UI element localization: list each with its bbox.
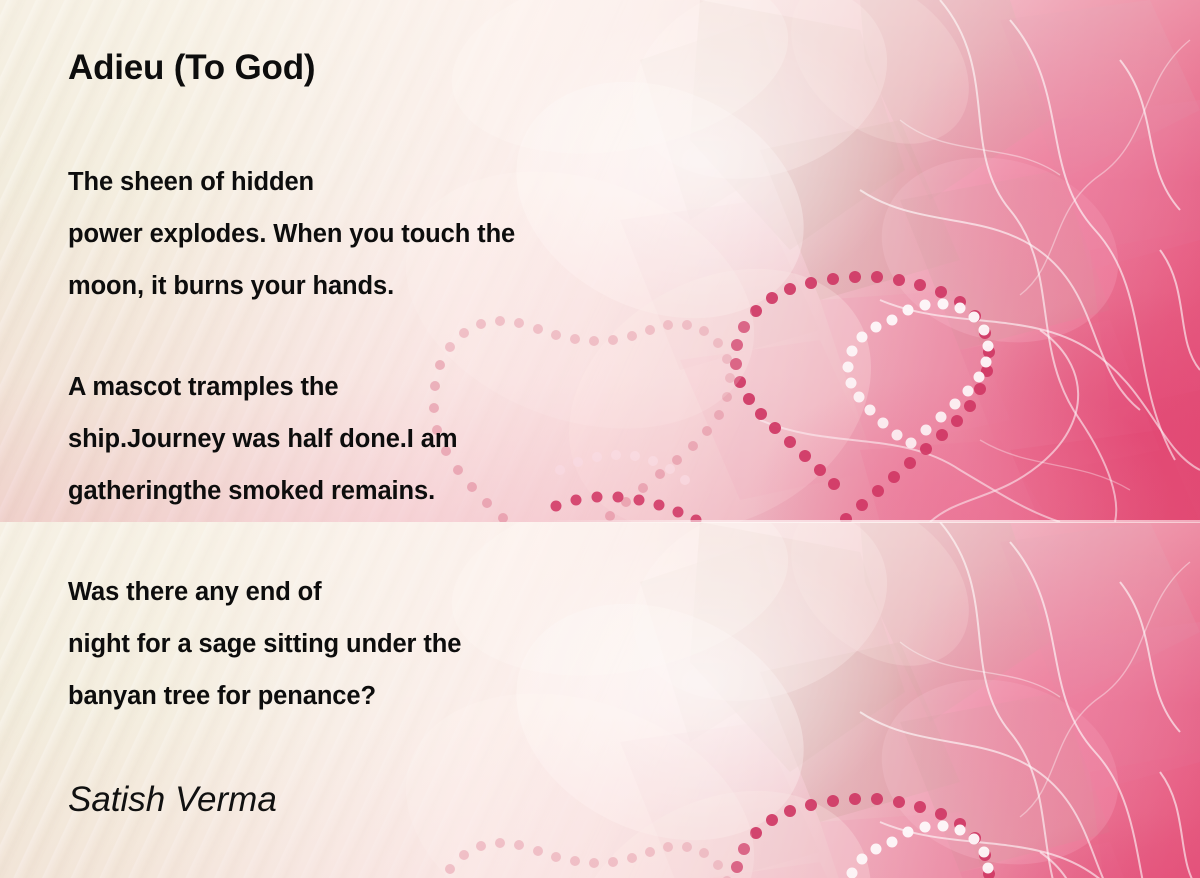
poem-line: Was there any end of bbox=[68, 566, 461, 618]
poem-line: banyan tree for penance? bbox=[68, 670, 461, 722]
poem-text-block: Adieu (To God) The sheen of hidden power… bbox=[68, 0, 708, 878]
poem-stanza-2: A mascot tramples the ship.Journey was h… bbox=[68, 361, 457, 517]
poem-line: The sheen of hidden bbox=[68, 156, 515, 208]
poem-line: power explodes. When you touch the bbox=[68, 208, 515, 260]
poem-line: ship.Journey was half done.I am bbox=[68, 413, 457, 465]
poem-title: Adieu (To God) bbox=[68, 48, 315, 88]
poem-line: gatheringthe smoked remains. bbox=[68, 465, 457, 517]
poem-line: moon, it burns your hands. bbox=[68, 260, 515, 312]
poem-stanza-1: The sheen of hidden power explodes. When… bbox=[68, 156, 515, 312]
poem-stanza-3: Was there any end of night for a sage si… bbox=[68, 566, 461, 722]
poem-card: Adieu (To God) The sheen of hidden power… bbox=[0, 0, 1200, 878]
poem-line: night for a sage sitting under the bbox=[68, 618, 461, 670]
poem-line: A mascot tramples the bbox=[68, 361, 457, 413]
poem-author: Satish Verma bbox=[68, 780, 277, 820]
